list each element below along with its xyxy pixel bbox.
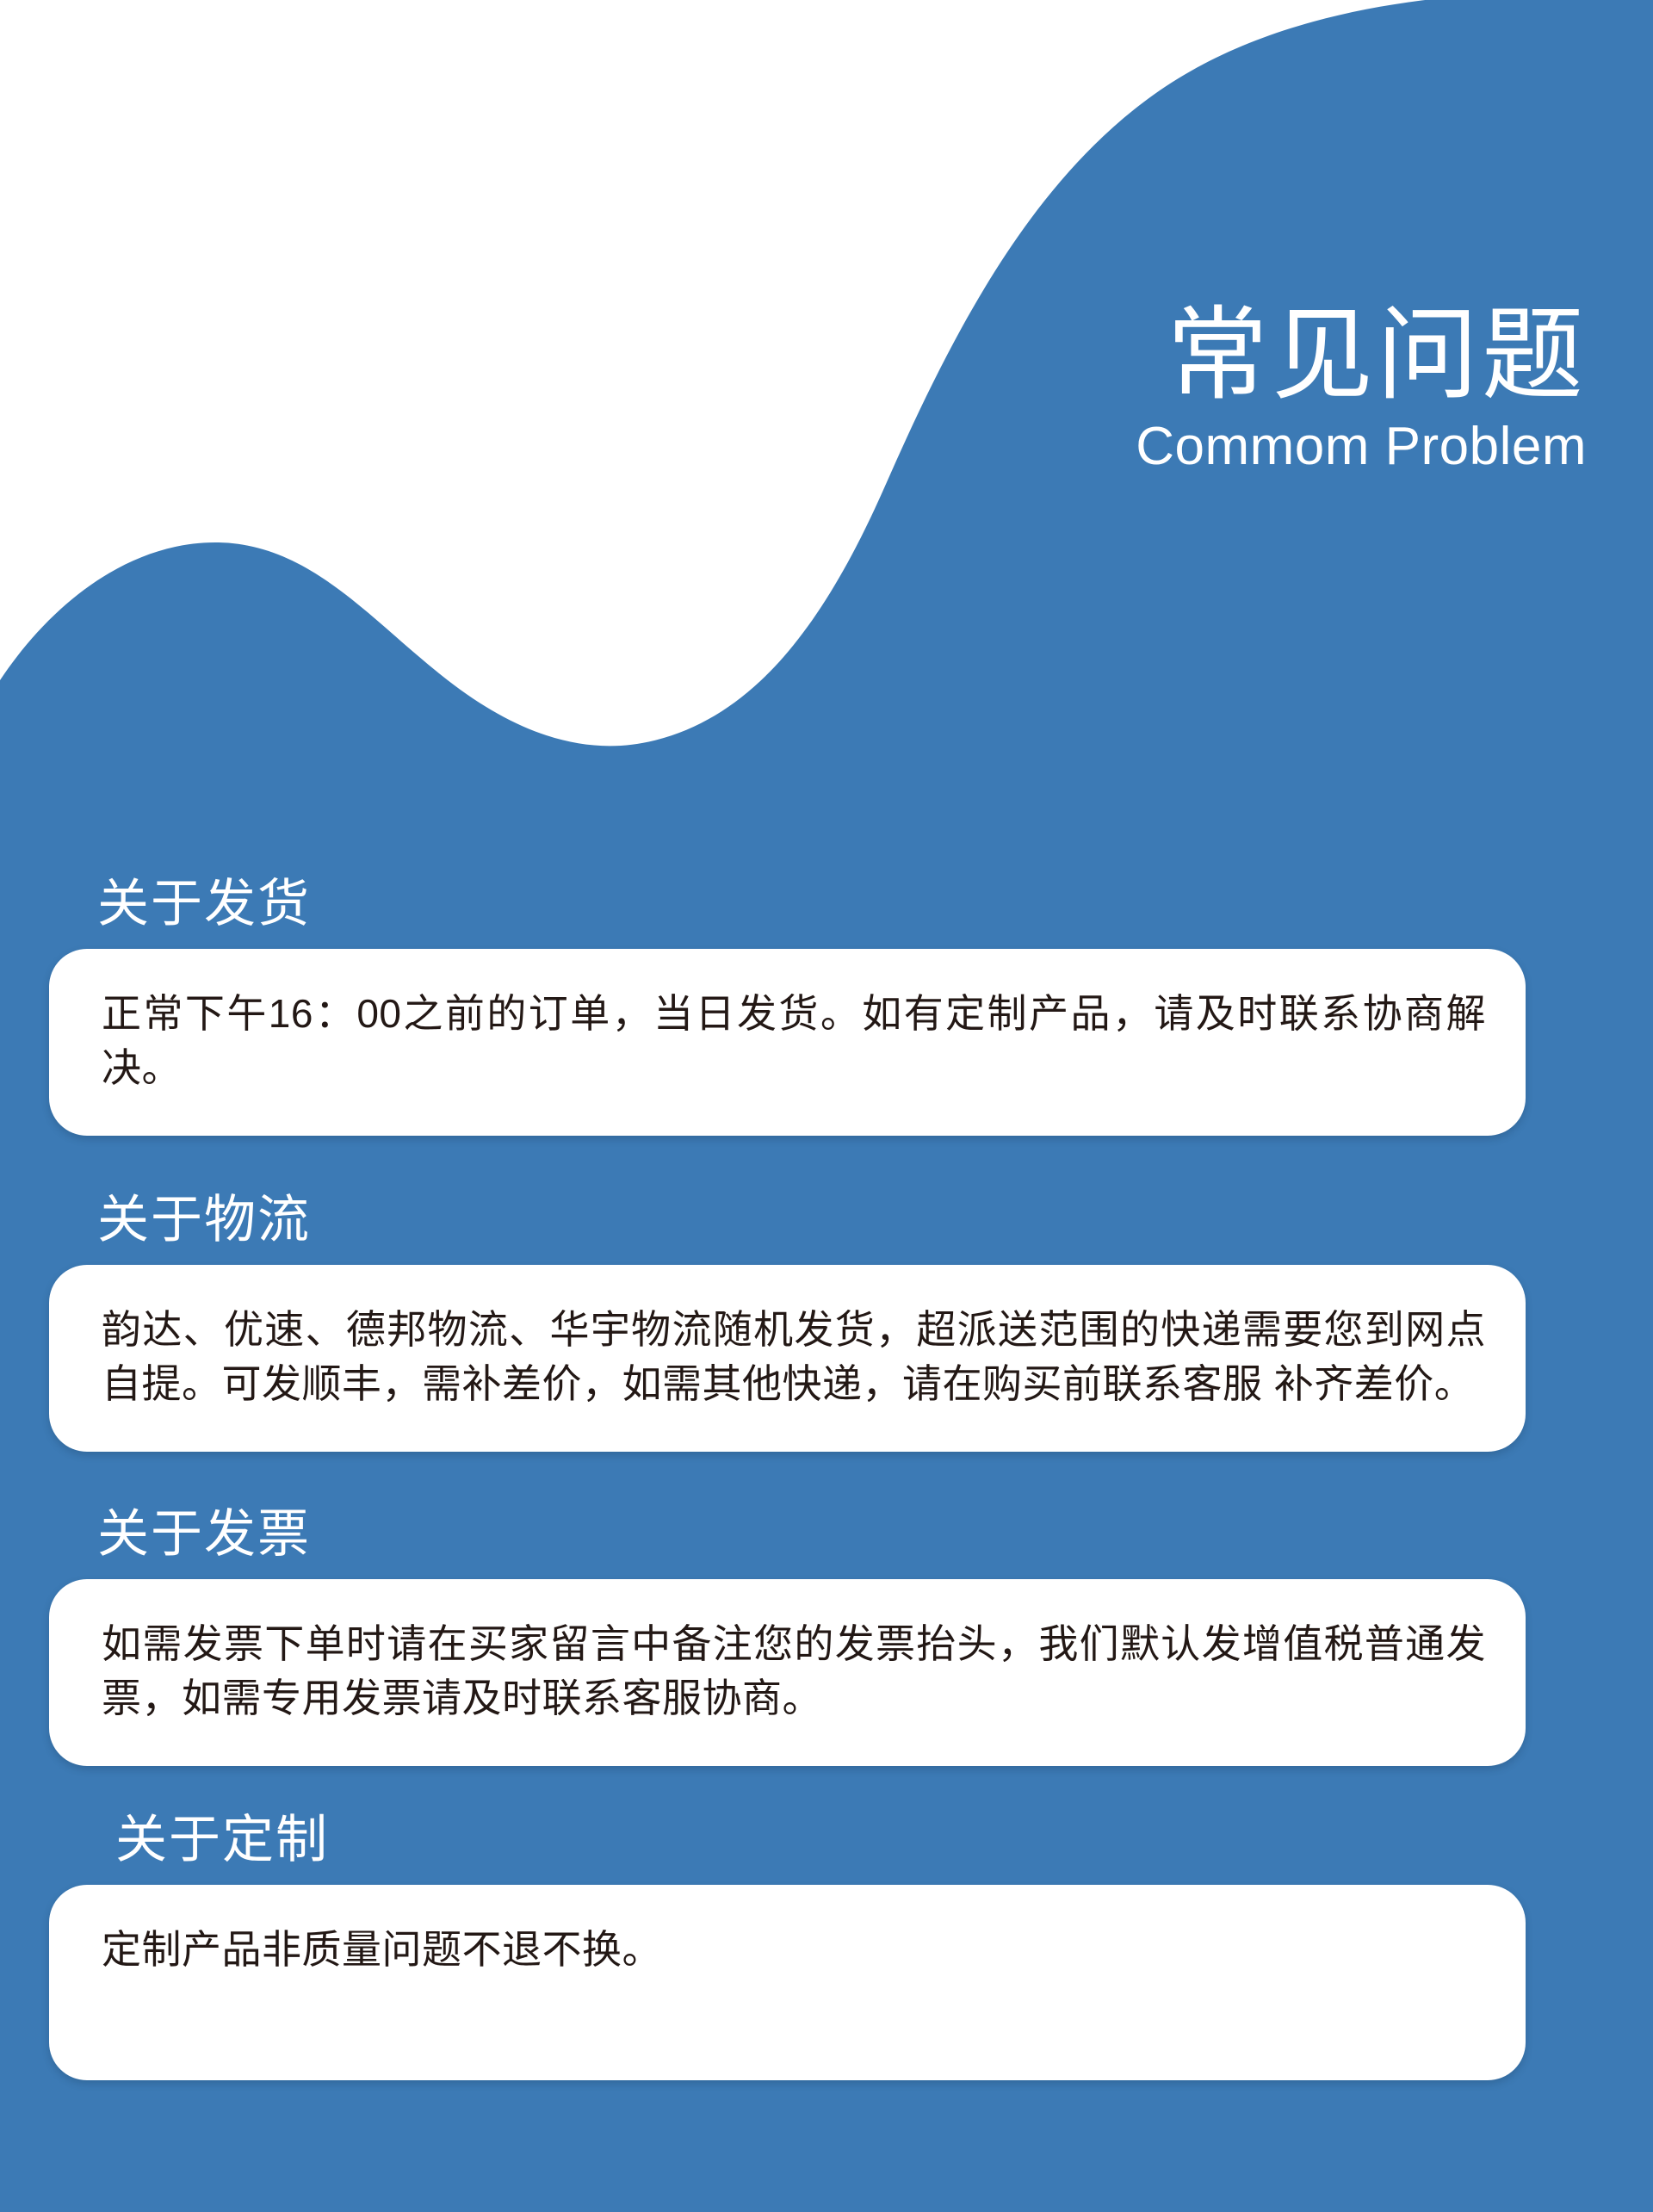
faq-body-shipping: 正常下午16：00之前的订单，当日发货。如有定制产品，请及时联系协商解决。	[102, 987, 1486, 1096]
faq-heading-logistics: 关于物流	[0, 1194, 1653, 1246]
faq-heading-shipping: 关于发货	[0, 878, 1653, 930]
faq-body-invoice: 如需发票下单时请在买家留言中备注您的发票抬头，我们默认发增值税普通发票，如需专用…	[102, 1617, 1486, 1726]
faq-heading-invoice: 关于发票	[0, 1509, 1653, 1560]
faq-card-shipping: 正常下午16：00之前的订单，当日发货。如有定制产品，请及时联系协商解决。	[49, 949, 1526, 1136]
faq-section-list: 关于发货 正常下午16：00之前的订单，当日发货。如有定制产品，请及时联系协商解…	[0, 878, 1653, 2080]
page-title-cn: 常见问题	[0, 301, 1587, 411]
faq-card-custom: 定制产品非质量问题不退不换。	[49, 1885, 1526, 2080]
faq-card-logistics: 韵达、优速、德邦物流、华宇物流随机发货，超派送范围的快递需要您到网点自提。可发顺…	[49, 1265, 1526, 1452]
faq-card-invoice: 如需发票下单时请在买家留言中备注您的发票抬头，我们默认发增值税普通发票，如需专用…	[49, 1579, 1526, 1766]
faq-page: 常见问题 Commom Problem 关于发货 正常下午16：00之前的订单，…	[0, 0, 1653, 2212]
faq-section-invoice: 关于发票 如需发票下单时请在买家留言中备注您的发票抬头，我们默认发增值税普通发票…	[0, 1509, 1653, 1766]
faq-section-custom: 关于定制 定制产品非质量问题不退不换。	[0, 1814, 1653, 2080]
page-title-en: Commom Problem	[0, 416, 1587, 477]
faq-section-logistics: 关于物流 韵达、优速、德邦物流、华宇物流随机发货，超派送范围的快递需要您到网点自…	[0, 1194, 1653, 1452]
page-header: 常见问题 Commom Problem	[0, 301, 1587, 478]
faq-section-shipping: 关于发货 正常下午16：00之前的订单，当日发货。如有定制产品，请及时联系协商解…	[0, 878, 1653, 1136]
faq-body-logistics: 韵达、优速、德邦物流、华宇物流随机发货，超派送范围的快递需要您到网点自提。可发顺…	[102, 1303, 1486, 1412]
faq-heading-custom: 关于定制	[0, 1814, 1653, 1866]
faq-body-custom: 定制产品非质量问题不退不换。	[102, 1923, 1486, 1977]
